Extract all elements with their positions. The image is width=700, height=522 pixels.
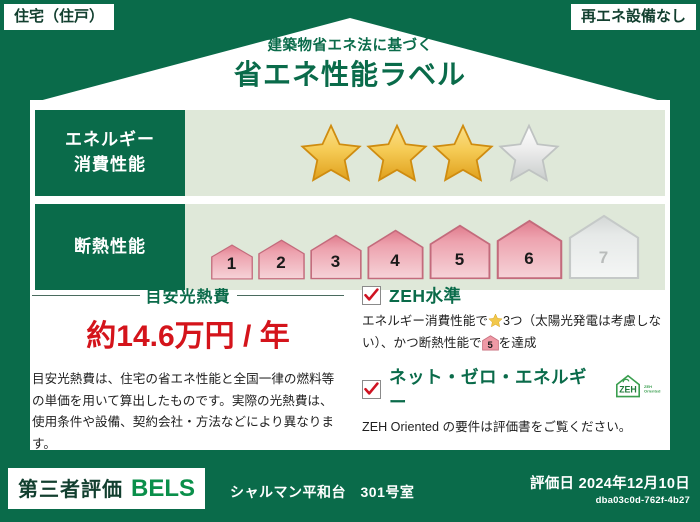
row-insulation-label: 断熱性能 [35, 204, 185, 290]
insulation-level-7: 7 [567, 214, 641, 280]
inline-house-badge-number: 5 [482, 341, 499, 351]
certification-column: ZEH水準 エネルギー消費性能で3つ（太陽光発電は考慮しない）、かつ断熱性能で5… [354, 283, 668, 456]
row-energy-content [185, 110, 665, 196]
insulation-level-3: 3 [309, 234, 363, 280]
evaluation-id: dba03c0d-762f-4b27 [530, 495, 690, 506]
house-icon [257, 239, 306, 280]
utility-cost-column: 目安光熱費 約14.6万円 / 年 目安光熱費は、住宅の省エネ性能と全国一律の燃… [32, 283, 354, 456]
insulation-level-scale: 1234567 [210, 214, 641, 280]
row-energy-label-line2: 消費性能 [74, 153, 146, 178]
check-block-zeh-standard: ZEH水準 エネルギー消費性能で3つ（太陽光発電は考慮しない）、かつ断熱性能で5… [362, 283, 668, 354]
checkbox-net-zero-energy[interactable] [362, 380, 381, 399]
check-desc-zeh-standard: エネルギー消費性能で3つ（太陽光発電は考慮しない）、かつ断熱性能で5を達成 [362, 311, 668, 354]
check-desc-part1: エネルギー消費性能で [362, 314, 488, 328]
lower-section: 目安光熱費 約14.6万円 / 年 目安光熱費は、住宅の省エネ性能と全国一律の燃… [32, 283, 668, 456]
utility-cost-heading-text: 目安光熱費 [146, 283, 231, 307]
insulation-level-5: 5 [428, 224, 492, 280]
insulation-level-1: 1 [210, 244, 254, 280]
house-icon [567, 214, 641, 280]
footer: 第三者評価 BELS シャルマン平和台 301号室 評価日 2024年12月10… [0, 460, 700, 522]
house-icon [366, 229, 425, 280]
star-rating [300, 122, 560, 184]
row-insulation-label-text: 断熱性能 [74, 235, 146, 260]
check-title-zeh-standard: ZEH水準 [389, 283, 462, 308]
house-icon [309, 234, 363, 280]
house-icon [210, 244, 254, 280]
bels-badge-jp: 第三者評価 [18, 473, 123, 502]
rule-left [32, 295, 140, 296]
house-icon [428, 224, 492, 280]
utility-cost-value: 約14.6万円 / 年 [32, 311, 344, 355]
checkbox-zeh-standard[interactable] [362, 286, 381, 305]
check-desc-part3: を達成 [499, 336, 537, 350]
insulation-level-2: 2 [257, 239, 306, 280]
utility-cost-note: 目安光熱費は、住宅の省エネ性能と全国一律の燃料等の単価を用いて算出したものです。… [32, 369, 344, 456]
svg-text:Oriented: Oriented [644, 388, 661, 393]
bels-badge-en: BELS [131, 475, 195, 503]
house-icon [495, 219, 564, 280]
row-energy-label: エネルギー 消費性能 [35, 110, 185, 196]
row-energy-performance: エネルギー 消費性能 [35, 110, 665, 196]
check-line-net-zero-energy: ネット・ゼロ・エネルギー ZEH ZEH Oriented [362, 364, 668, 414]
rule-right [237, 295, 345, 296]
tag-renewable-equipment: 再エネ設備なし [571, 4, 696, 30]
star-filled-icon [300, 122, 362, 184]
check-desc-net-zero-energy: ZEH Oriented の要件は評価書をご覧ください。 [362, 417, 668, 439]
energy-performance-label: 建築物省エネ法に基づく 省エネ性能ラベル 住宅（住戸） 再エネ設備なし エネルギ… [0, 0, 700, 522]
building-name: シャルマン平和台 301号室 [230, 482, 414, 502]
tag-building-type: 住宅（住戸） [4, 4, 114, 30]
insulation-level-6: 6 [495, 219, 564, 280]
zeh-oriented-logo: ZEH ZEH Oriented [612, 373, 668, 406]
inline-star-icon [488, 313, 503, 328]
row-insulation-performance: 断熱性能 1234567 [35, 204, 665, 290]
insulation-level-4: 4 [366, 229, 425, 280]
star-filled-icon [432, 122, 494, 184]
evaluation-info: 評価日 2024年12月10日 dba03c0d-762f-4b27 [530, 472, 690, 506]
row-insulation-content: 1234567 [185, 204, 665, 290]
utility-cost-heading: 目安光熱費 [32, 283, 344, 307]
evaluation-date: 評価日 2024年12月10日 [530, 472, 690, 493]
check-line-zeh-standard: ZEH水準 [362, 283, 668, 308]
bels-badge: 第三者評価 BELS [8, 468, 205, 509]
svg-text:ZEH: ZEH [619, 384, 637, 394]
rating-rows: エネルギー 消費性能 断熱性能 1234567 [35, 110, 665, 298]
star-empty-icon [498, 122, 560, 184]
star-filled-icon [366, 122, 428, 184]
inline-house-badge: 5 [482, 335, 499, 351]
check-block-net-zero-energy: ネット・ゼロ・エネルギー ZEH ZEH Oriented ZEH Orient… [362, 364, 668, 439]
row-energy-label-line1: エネルギー [65, 128, 155, 153]
check-title-net-zero-energy: ネット・ゼロ・エネルギー [389, 364, 602, 414]
